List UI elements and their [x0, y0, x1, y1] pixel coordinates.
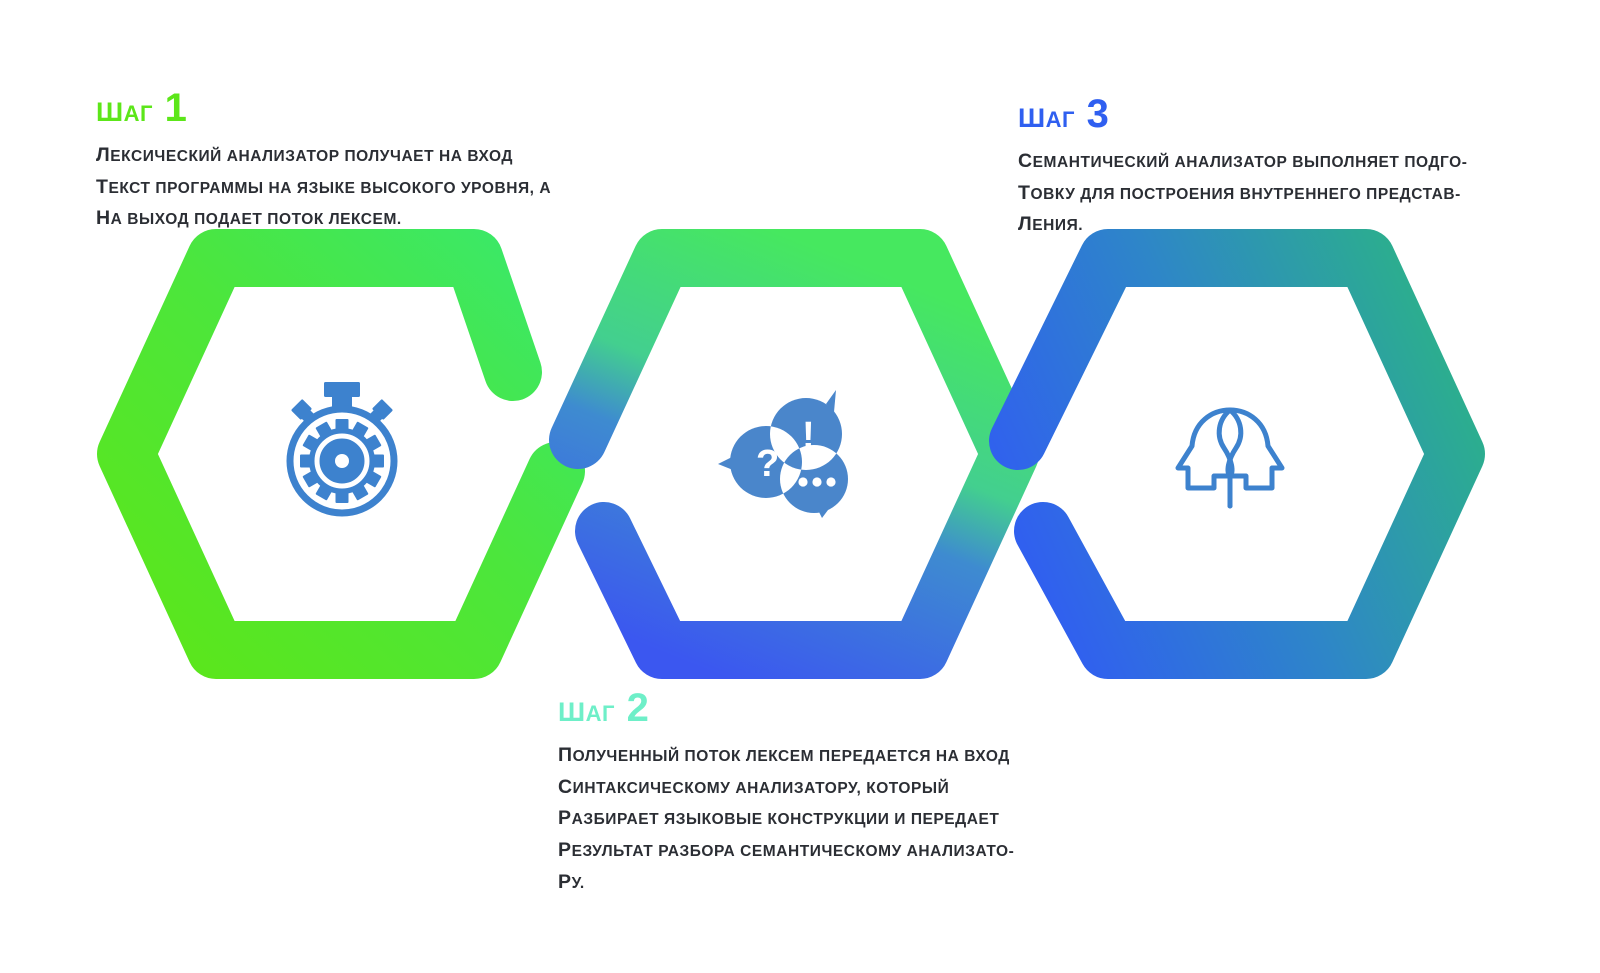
body-line: СИНТАКСИЧЕСКОМУ АНАЛИЗАТОРУ, КОТОРЫЙ — [558, 772, 1028, 804]
speech-bubbles-icon: ? ! — [718, 390, 868, 518]
step-3-text-block: ШАГ 3 СЕМАНТИЧЕСКИЙ АНАЛИЗАТОР ВЫПОЛНЯЕТ… — [1018, 94, 1488, 241]
body-line: ПОЛУЧЕННЫЙ ПОТОК ЛЕКСЕМ ПЕРЕДАЕТСЯ НА ВХ… — [558, 740, 1028, 772]
body-line: СЕМАНТИЧЕСКИЙ АНАЛИЗАТОР ВЫПОЛНЯЕТ ПОДГО… — [1018, 146, 1488, 178]
body-line: НА ВЫХОД ПОДАЕТ ПОТОК ЛЕКСЕМ. — [96, 203, 566, 235]
body-line: ТОВКУ ДЛЯ ПОСТРОЕНИЯ ВНУТРЕННЕГО ПРЕДСТА… — [1018, 178, 1488, 210]
step-3-body: СЕМАНТИЧЕСКИЙ АНАЛИЗАТОР ВЫПОЛНЯЕТ ПОДГО… — [1018, 146, 1488, 241]
body-line: ЛЕНИЯ. — [1018, 209, 1488, 241]
body-line: РАЗБИРАЕТ ЯЗЫКОВЫЕ КОНСТРУКЦИИ И ПЕРЕДАЕ… — [558, 803, 1028, 835]
infographic-canvas: ? ! ШАГ 1 ЛЕКСИЧЕСКИЙ АНАЛИЗАТОР — [0, 0, 1600, 973]
ellipsis-glyph — [798, 477, 835, 486]
step-2-title: ШАГ 2 — [558, 688, 1028, 728]
icon-container-step-1 — [272, 378, 412, 523]
question-glyph: ? — [756, 443, 779, 485]
body-line: РЕЗУЛЬТАТ РАЗБОРА СЕМАНТИЧЕСКОМУ АНАЛИЗА… — [558, 835, 1028, 867]
step-2-body: ПОЛУЧЕННЫЙ ПОТОК ЛЕКСЕМ ПЕРЕДАЕТСЯ НА ВХ… — [558, 740, 1028, 898]
two-heads-icon — [1152, 402, 1307, 510]
body-line: ЛЕКСИЧЕСКИЙ АНАЛИЗАТОР ПОЛУЧАЕТ НА ВХОД — [96, 140, 566, 172]
step-1-text-block: ШАГ 1 ЛЕКСИЧЕСКИЙ АНАЛИЗАТОР ПОЛУЧАЕТ НА… — [96, 88, 566, 235]
step-3-title: ШАГ 3 — [1018, 94, 1488, 134]
exclamation-glyph: ! — [802, 415, 815, 457]
icon-container-step-2: ? ! — [718, 390, 868, 518]
step-2-text-block: ШАГ 2 ПОЛУЧЕННЫЙ ПОТОК ЛЕКСЕМ ПЕРЕДАЕТСЯ… — [558, 688, 1028, 898]
step-1-title: ШАГ 1 — [96, 88, 566, 128]
body-line: РУ. — [558, 867, 1028, 899]
icon-container-step-3 — [1152, 402, 1307, 510]
stopwatch-gear-icon — [272, 378, 412, 523]
step-1-body: ЛЕКСИЧЕСКИЙ АНАЛИЗАТОР ПОЛУЧАЕТ НА ВХОДТ… — [96, 140, 566, 235]
body-line: ТЕКСТ ПРОГРАММЫ НА ЯЗЫКЕ ВЫСОКОГО УРОВНЯ… — [96, 172, 566, 204]
